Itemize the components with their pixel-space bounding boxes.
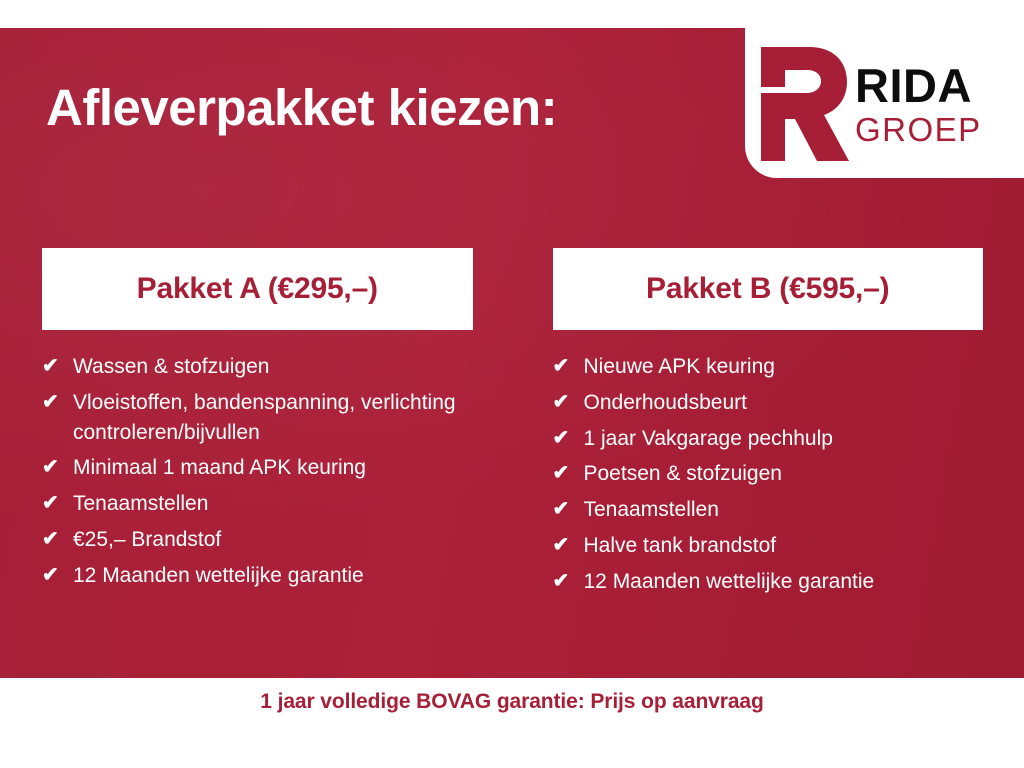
package-b-feature-list: ✔ Nieuwe APK keuring ✔ Onderhoudsbeurt ✔…: [553, 330, 984, 597]
list-item-label: Poetsen & stofzuigen: [584, 459, 984, 489]
checkmark-icon: ✔: [553, 424, 584, 452]
brand-name-primary: RIDA: [855, 62, 982, 109]
page-title: Afleverpakket kiezen:: [46, 78, 557, 137]
brand-name-secondary: GROEP: [855, 113, 982, 146]
list-item-label: Onderhoudsbeurt: [584, 388, 984, 418]
checkmark-icon: ✔: [42, 489, 73, 517]
list-item: ✔ Poetsen & stofzuigen: [553, 459, 984, 489]
list-item-label: 12 Maanden wettelijke garantie: [584, 567, 984, 597]
list-item: ✔ 12 Maanden wettelijke garantie: [42, 561, 473, 591]
package-a-feature-list: ✔ Wassen & stofzuigen ✔ Vloeistoffen, ba…: [42, 330, 473, 591]
footer-banner: 1 jaar volledige BOVAG garantie: Prijs o…: [0, 678, 1024, 768]
checkmark-icon: ✔: [553, 531, 584, 559]
checkmark-icon: ✔: [42, 453, 73, 481]
list-item-label: Wassen & stofzuigen: [73, 352, 473, 382]
list-item-label: Vloeistoffen, bandenspanning, verlichtin…: [73, 388, 473, 448]
list-item-label: 12 Maanden wettelijke garantie: [73, 561, 473, 591]
checkmark-icon: ✔: [42, 525, 73, 553]
list-item: ✔ Nieuwe APK keuring: [553, 352, 984, 382]
checkmark-icon: ✔: [553, 352, 584, 380]
list-item-label: €25,– Brandstof: [73, 525, 473, 555]
list-item-label: Halve tank brandstof: [584, 531, 984, 561]
list-item: ✔ Wassen & stofzuigen: [42, 352, 473, 382]
list-item: ✔ Tenaamstellen: [42, 489, 473, 519]
package-b: Pakket B (€595,–) ✔ Nieuwe APK keuring ✔…: [553, 248, 984, 603]
footer-note: 1 jaar volledige BOVAG garantie: Prijs o…: [260, 690, 763, 714]
slide-canvas: RIDA GROEP Afleverpakket kiezen: Pakket …: [0, 0, 1024, 768]
package-a: Pakket A (€295,–) ✔ Wassen & stofzuigen …: [42, 248, 473, 603]
list-item: ✔ 12 Maanden wettelijke garantie: [553, 567, 984, 597]
list-item-label: Nieuwe APK keuring: [584, 352, 984, 382]
package-a-title: Pakket A (€295,–): [137, 272, 378, 306]
checkmark-icon: ✔: [42, 352, 73, 380]
checkmark-icon: ✔: [553, 459, 584, 487]
package-b-header: Pakket B (€595,–): [553, 248, 984, 330]
list-item: ✔ Halve tank brandstof: [553, 531, 984, 561]
checkmark-icon: ✔: [42, 388, 73, 416]
package-b-title: Pakket B (€595,–): [646, 272, 889, 306]
list-item: ✔ Onderhoudsbeurt: [553, 388, 984, 418]
checkmark-icon: ✔: [42, 561, 73, 589]
list-item-label: Tenaamstellen: [73, 489, 473, 519]
list-item-label: Minimaal 1 maand APK keuring: [73, 453, 473, 483]
package-a-header: Pakket A (€295,–): [42, 248, 473, 330]
list-item: ✔ 1 jaar Vakgarage pechhulp: [553, 424, 984, 454]
list-item: ✔ Vloeistoffen, bandenspanning, verlicht…: [42, 388, 473, 448]
checkmark-icon: ✔: [553, 388, 584, 416]
list-item: ✔ €25,– Brandstof: [42, 525, 473, 555]
list-item-label: Tenaamstellen: [584, 495, 984, 525]
rida-r-logo-icon: [757, 45, 849, 161]
checkmark-icon: ✔: [553, 567, 584, 595]
brand-logo-plate: RIDA GROEP: [745, 28, 1024, 178]
list-item: ✔ Minimaal 1 maand APK keuring: [42, 453, 473, 483]
checkmark-icon: ✔: [553, 495, 584, 523]
list-item: ✔ Tenaamstellen: [553, 495, 984, 525]
packages-container: Pakket A (€295,–) ✔ Wassen & stofzuigen …: [42, 248, 983, 603]
list-item-label: 1 jaar Vakgarage pechhulp: [584, 424, 984, 454]
brand-wordmark: RIDA GROEP: [855, 60, 982, 146]
